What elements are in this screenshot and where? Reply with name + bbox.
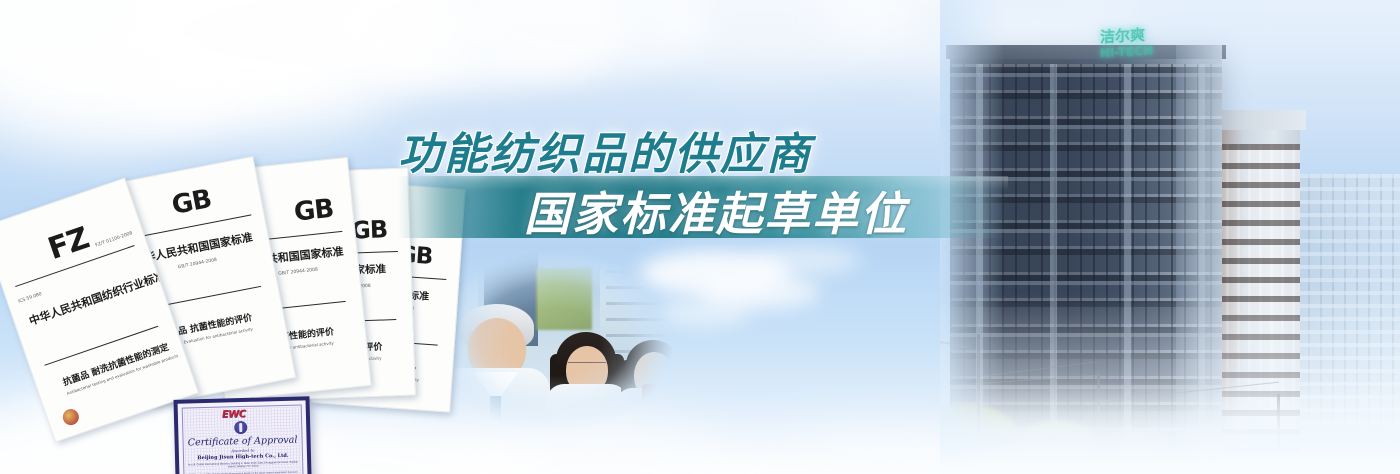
street-level xyxy=(940,324,1400,474)
standard-ics: ICS 59.080 xyxy=(18,292,43,305)
official-seal xyxy=(61,407,81,427)
standard-title: 中华人民共和国纺织行业标准 xyxy=(27,267,167,329)
headline-group: 功能纺织品的供应商 国家标准起草单位 xyxy=(0,104,1010,244)
rooftop-sign: 洁尔爽 HI-TECH xyxy=(1100,26,1184,64)
standard-number: GB/T 20944-2008 xyxy=(178,258,218,270)
ewc-logo: EWC xyxy=(222,409,246,421)
ground-haze xyxy=(940,382,1400,474)
iso-certificate: EWC Certificate of Approval Awarded to B… xyxy=(173,396,314,474)
hero-banner: 洁尔爽 HI-TECH xyxy=(0,0,1400,474)
standard-number: GB/T 20944-2008 xyxy=(278,268,318,277)
headline-line-2: 国家标准起草单位 xyxy=(524,178,908,244)
headline-line-1: 功能纺织品的供应商 xyxy=(398,118,812,182)
lamp-arm xyxy=(940,335,943,344)
lamp-arm xyxy=(940,340,976,350)
cloud xyxy=(750,245,860,275)
rooftop-sign-subtext: HI-TECH xyxy=(1100,42,1184,61)
